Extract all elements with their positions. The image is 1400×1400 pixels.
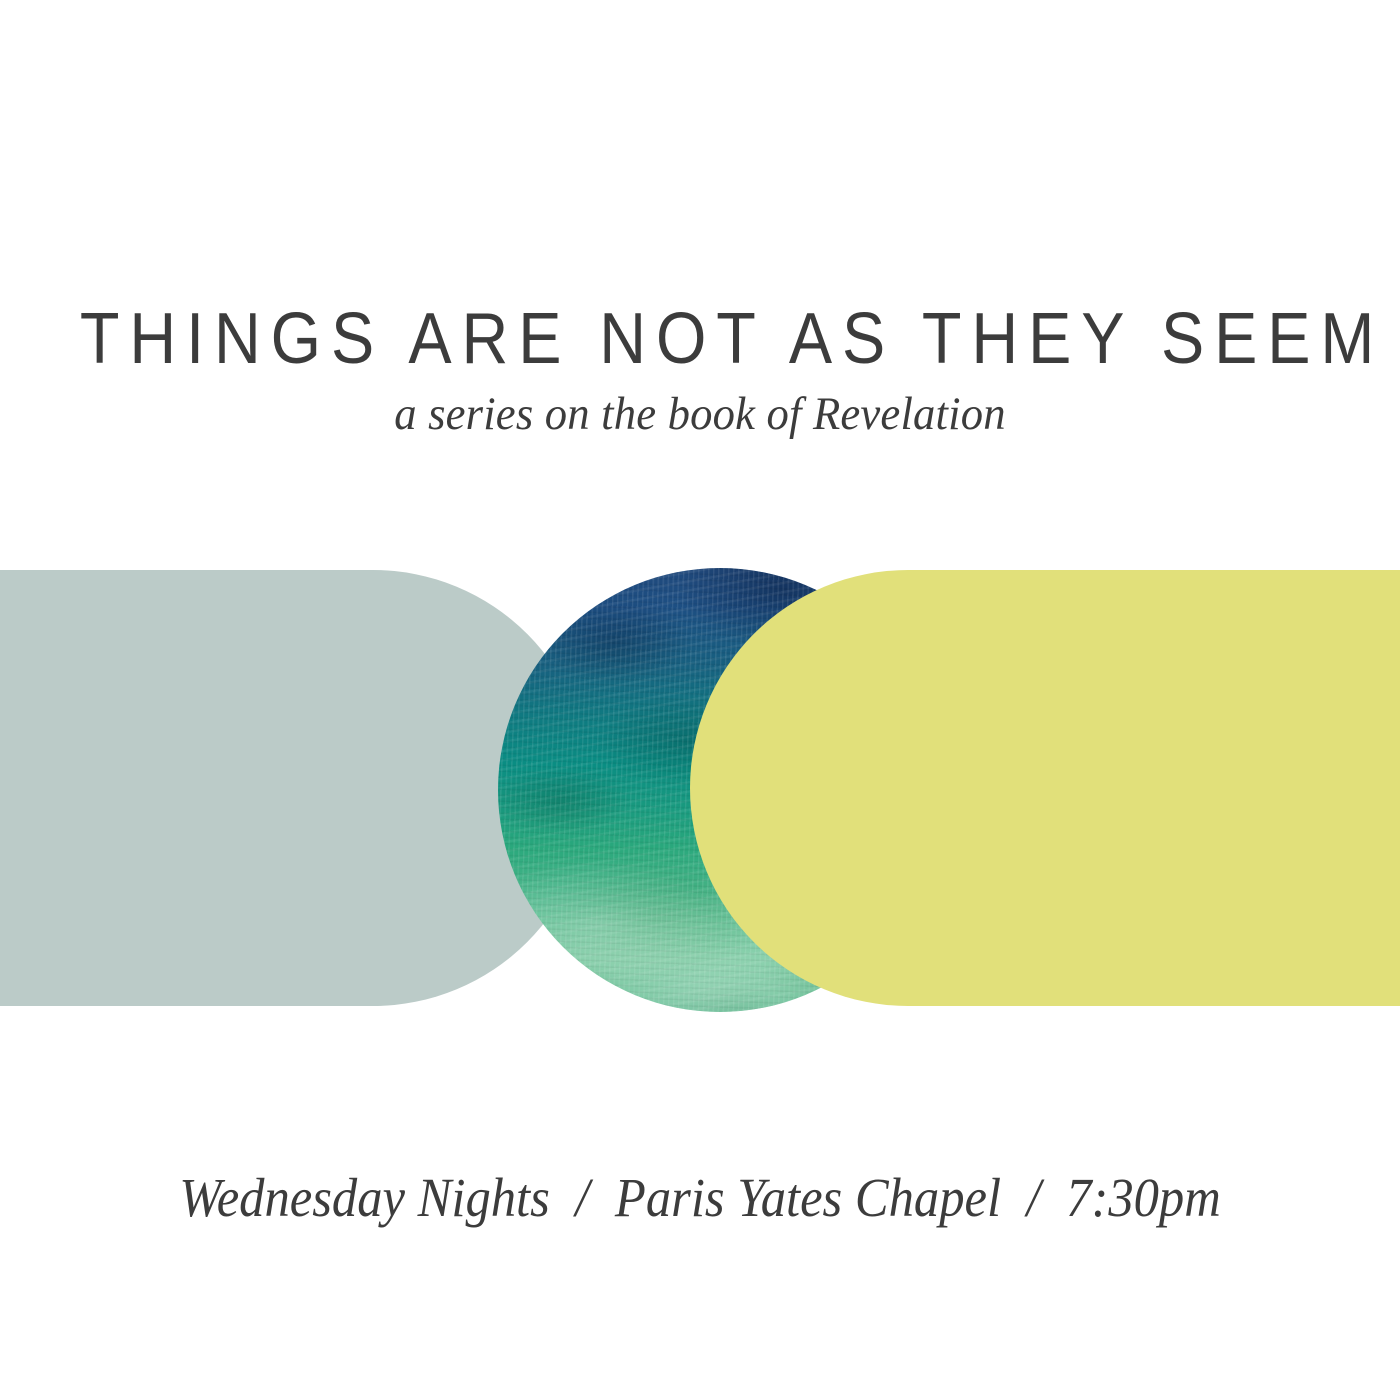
page-subtitle: a series on the book of Revelation bbox=[35, 387, 1365, 441]
page-title: THINGS ARE NOT AS THEY SEEM bbox=[70, 303, 1330, 375]
event-location: Paris Yates Chapel bbox=[615, 1167, 1001, 1228]
detail-separator-1: / bbox=[562, 1167, 602, 1228]
yellow-rounded-rectangle-shape bbox=[690, 570, 1400, 1006]
detail-separator-2: / bbox=[1014, 1167, 1054, 1228]
graphic-band bbox=[0, 570, 1400, 1006]
event-time: 7:30pm bbox=[1066, 1167, 1221, 1228]
event-day: Wednesday Nights bbox=[179, 1167, 550, 1228]
event-poster: THINGS ARE NOT AS THEY SEEM a series on … bbox=[0, 0, 1400, 1400]
event-details: Wednesday Nights / Paris Yates Chapel / … bbox=[56, 1168, 1344, 1229]
